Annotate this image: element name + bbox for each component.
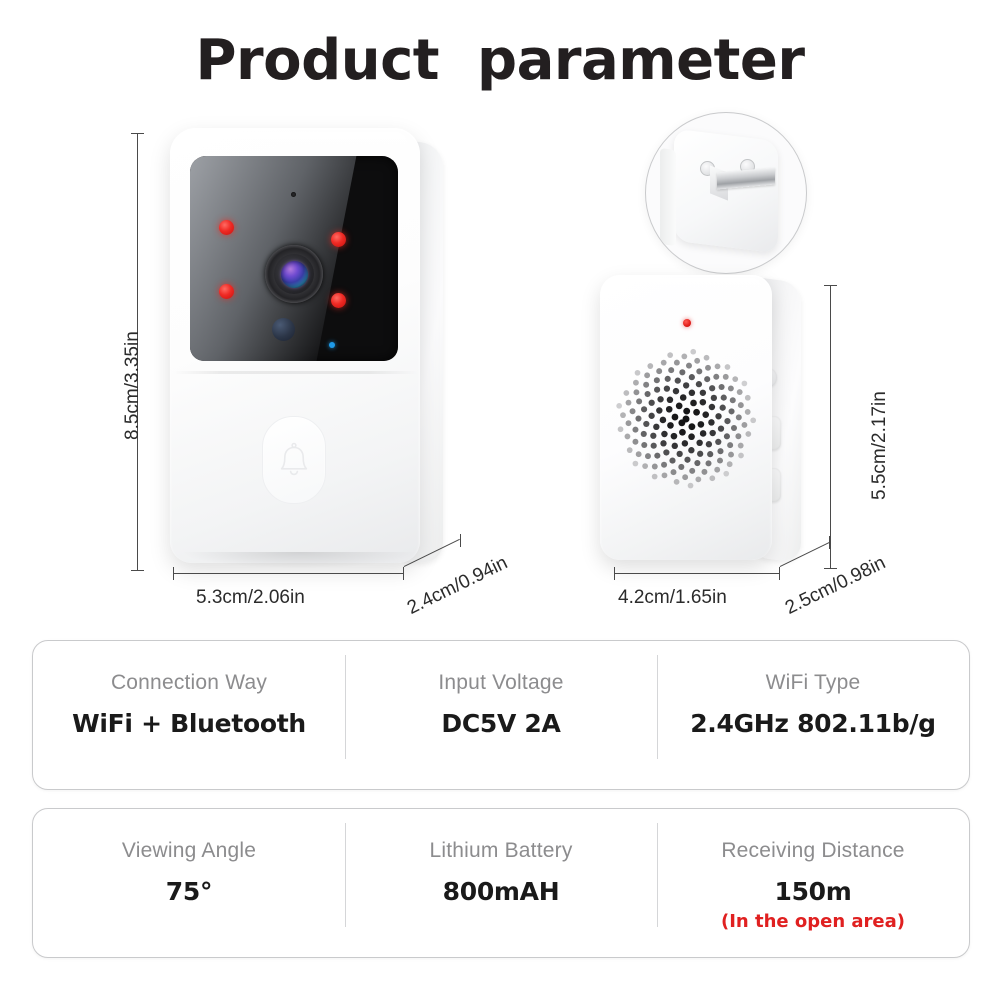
spec-value: 150m [774, 877, 851, 906]
speaker-grille-icon [608, 341, 764, 497]
ir-led-icon [331, 232, 346, 247]
doorbell-width-line [173, 573, 403, 574]
spec-value: WiFi + Bluetooth [72, 709, 306, 738]
spec-label: WiFi Type [766, 671, 861, 695]
bell-icon [276, 440, 312, 480]
spec-cell: Viewing Angle 75° [33, 809, 345, 957]
spec-cell: Input Voltage DC5V 2A [345, 641, 657, 789]
product-photo-stage: 8.5cm/3.35in 5.3cm/2.06in 2.4cm/0.94in 5… [0, 100, 1000, 630]
chime-height-label: 5.5cm/2.17in [869, 391, 891, 500]
spec-card-2: Viewing Angle 75° Lithium Battery 800mAH… [32, 808, 970, 958]
chime-width-label: 4.2cm/1.65in [618, 587, 727, 609]
dim-cap [779, 567, 780, 580]
doorbell-ground-shadow [184, 552, 414, 568]
dim-cap [403, 567, 404, 580]
doorbell-front-body [170, 128, 420, 563]
spec-cell: Connection Way WiFi + Bluetooth [33, 641, 345, 789]
plug-closeup-bubble [645, 112, 807, 274]
spec-label: Input Voltage [438, 671, 563, 695]
chime-front-body [600, 275, 772, 560]
chime-width-line [614, 573, 779, 574]
dim-cap [829, 536, 830, 549]
product-parameter-page: Product parameter [0, 0, 1000, 1000]
spec-value: 75° [166, 877, 212, 906]
doorbell-top-highlight [182, 132, 408, 158]
status-indicator-led [329, 342, 335, 348]
spec-cell: Lithium Battery 800mAH [345, 809, 657, 957]
chime-back-edge [660, 148, 676, 246]
dim-cap [173, 567, 174, 580]
spec-label: Receiving Distance [721, 839, 904, 863]
doorbell-device-image [170, 128, 435, 568]
page-title: Product parameter [0, 28, 1000, 93]
spec-cell: Receiving Distance 150m (In the open are… [657, 809, 969, 957]
spec-card-1: Connection Way WiFi + Bluetooth Input Vo… [32, 640, 970, 790]
doorbell-camera-panel [190, 156, 398, 361]
chime-top-highlight [610, 278, 762, 298]
lens-glass [281, 261, 308, 288]
microphone-hole-icon [291, 192, 296, 197]
chime-status-led [683, 319, 691, 327]
dim-cap [824, 568, 837, 569]
doorbell-width-label: 5.3cm/2.06in [196, 587, 305, 609]
spec-cell: WiFi Type 2.4GHz 802.11b/g [657, 641, 969, 789]
light-sensor-icon [272, 318, 295, 341]
dim-cap [131, 133, 144, 134]
dim-cap [824, 285, 837, 286]
dim-cap [460, 534, 461, 547]
spec-value: DC5V 2A [441, 709, 560, 738]
spec-label: Viewing Angle [122, 839, 256, 863]
lens-barrel [274, 254, 314, 294]
camera-lens-icon [265, 245, 323, 303]
spec-note: (In the open area) [721, 911, 905, 932]
chime-height-line [830, 285, 831, 568]
ir-led-icon [219, 220, 234, 235]
dim-cap [614, 567, 615, 580]
spec-label: Connection Way [111, 671, 267, 695]
spec-value: 2.4GHz 802.11b/g [690, 709, 936, 738]
doorbell-height-label: 8.5cm/3.35in [122, 331, 144, 440]
spec-value: 800mAH [443, 877, 560, 906]
spec-label: Lithium Battery [429, 839, 572, 863]
chime-device-image [600, 275, 815, 565]
body-seam-line [172, 371, 418, 374]
ir-led-icon [331, 293, 346, 308]
dim-cap [131, 570, 144, 571]
doorbell-push-button[interactable] [262, 416, 326, 504]
ir-led-icon [219, 284, 234, 299]
